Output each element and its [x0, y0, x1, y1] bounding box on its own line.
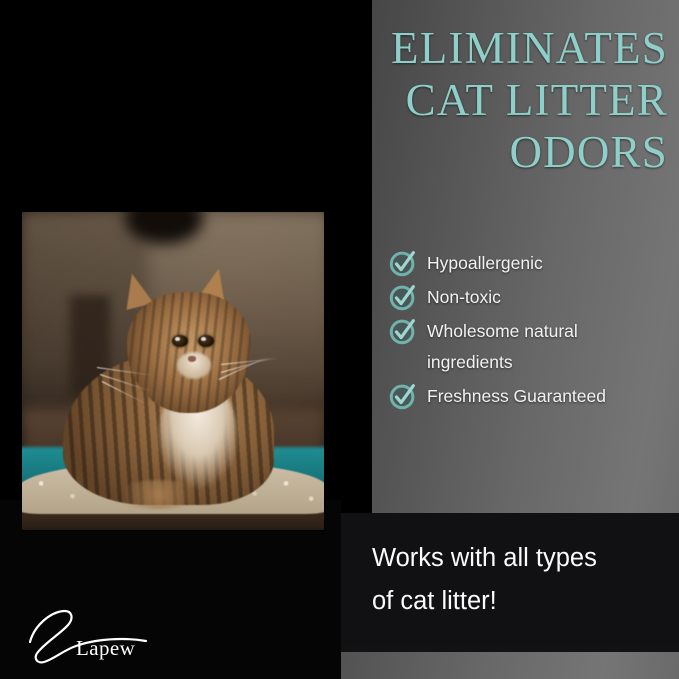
kitten-figure [58, 263, 288, 505]
kitten-litter-box-photo [22, 212, 324, 530]
check-circle-icon [388, 381, 418, 411]
callout-line-2: of cat litter! [372, 587, 497, 615]
brand-name: Lapew [76, 636, 135, 661]
callout-text: Works with all types of cat litter! [341, 537, 611, 623]
feature-label: Non-toxic [427, 282, 501, 313]
check-circle-icon [388, 248, 418, 278]
feature-label: Hypoallergenic [427, 248, 543, 279]
brand-logo: Lapew [24, 606, 159, 668]
callout-line-1: Works with all types [372, 544, 597, 572]
callout-box: Works with all types of cat litter! [341, 513, 679, 646]
feature-label: Wholesome natural ingredients [427, 316, 652, 378]
list-item: Wholesome natural ingredients [388, 316, 674, 378]
kitten-eye-left [172, 335, 188, 347]
check-circle-icon [388, 282, 418, 312]
product-ad-banner: ELIMINATES CAT LITTER ODORS [0, 0, 679, 679]
callout-bottom-edge [341, 646, 679, 652]
list-item: Hypoallergenic [388, 248, 674, 279]
kitten-whisker [219, 356, 269, 380]
headline-line-2: CAT LITTER [300, 74, 668, 126]
kitten-eye-right [198, 335, 214, 347]
check-circle-icon [388, 316, 418, 346]
list-item: Freshness Guaranteed [388, 381, 674, 412]
list-item: Non-toxic [388, 282, 674, 313]
headline-line-3: ODORS [300, 126, 668, 178]
headline: ELIMINATES CAT LITTER ODORS [300, 22, 668, 178]
feature-list: Hypoallergenic Non-toxic Wholesome n [388, 248, 674, 415]
headline-line-1: ELIMINATES [300, 22, 668, 74]
feature-label: Freshness Guaranteed [427, 381, 606, 412]
